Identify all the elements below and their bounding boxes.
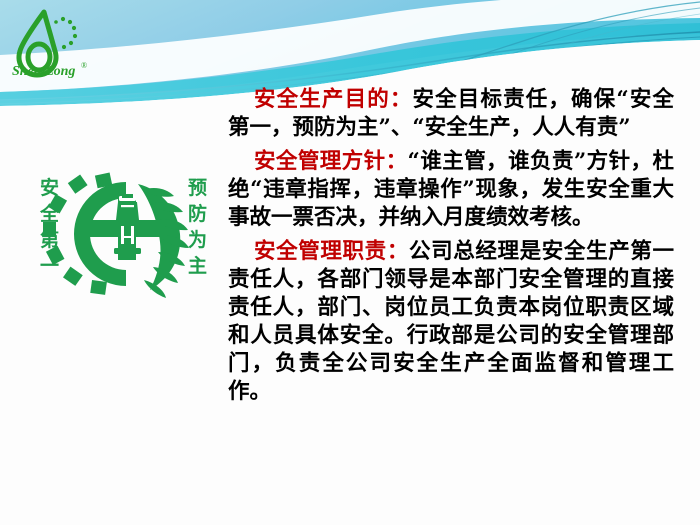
company-wordmark: Shen Long [12, 64, 75, 79]
safety-production-emblem: 安 全 第 一 预 防 为 主 [26, 166, 228, 306]
star-arc-icon [54, 17, 77, 49]
paragraph-heading-safety-purpose: 安全生产目的： [254, 87, 413, 112]
paragraph-safety-purpose: 安全生产目的：安全目标责任，确保“安全第一，预防为主”、“安全生产，人人有责” [228, 86, 674, 142]
svg-text:为: 为 [188, 228, 207, 251]
company-logo: Shen Long ® [6, 6, 102, 82]
registered-mark-icon: ® [81, 61, 87, 70]
paragraph-safety-policy: 安全管理方针：“谁主管，谁负责”方针，杜绝“违章指挥，违章操作”现象，发生安全重… [228, 148, 674, 232]
paragraph-heading-safety-policy: 安全管理方针： [254, 149, 408, 174]
slide-canvas: Shen Long ® 安 全 第 一 预 防 为 主 [0, 0, 700, 525]
wheat-branch-icon [138, 184, 189, 298]
svg-text:预: 预 [188, 177, 207, 199]
slide-text-column: 安全生产目的：安全目标责任，确保“安全第一，预防为主”、“安全生产，人人有责” … [228, 86, 674, 406]
svg-text:主: 主 [188, 255, 207, 277]
paragraph-safety-responsibility: 安全管理职责：公司总经理是安全生产第一责任人，各部门领导是本部门安全管理的直接责… [228, 238, 674, 406]
paragraph-heading-safety-responsibility: 安全管理职责： [254, 239, 409, 264]
emblem-right-text: 预 防 为 主 [188, 177, 207, 277]
svg-text:防: 防 [188, 202, 207, 225]
